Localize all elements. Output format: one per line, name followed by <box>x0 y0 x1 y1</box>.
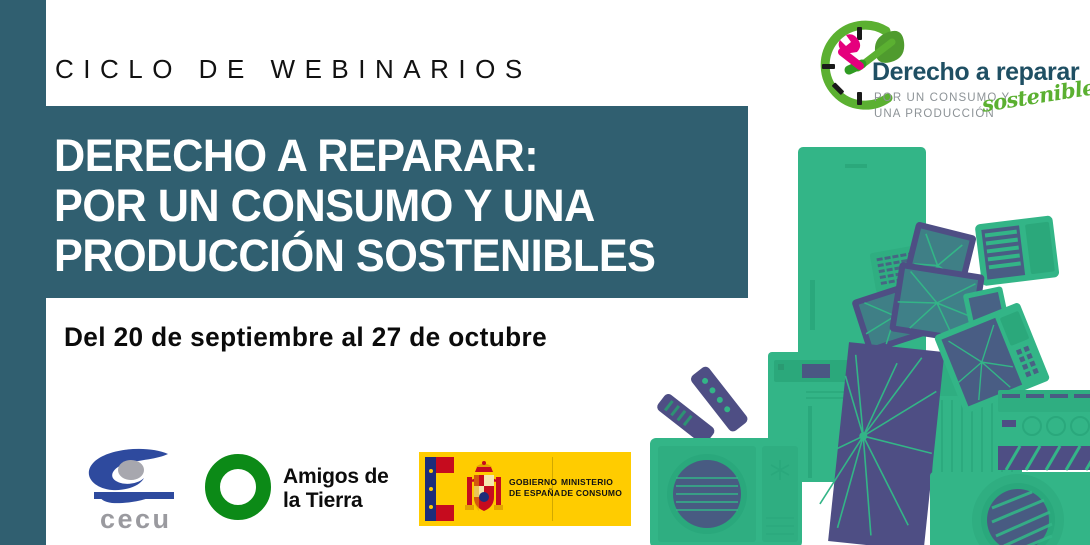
event-date-range: Del 20 de septiembre al 27 de octubre <box>64 322 547 353</box>
amigos-de-la-tierra-wordmark: Amigos de la Tierra <box>283 465 389 513</box>
headline-line-2: POR UN CONSUMO Y UNA <box>54 181 716 231</box>
sponsor-logos-row: cecu Amigos de la Tierra <box>0 440 700 545</box>
webinar-poster: CICLO DE WEBINARIOS DERECHO A REPARAR: P… <box>0 0 1090 545</box>
amigos-de-la-tierra-logo: Amigos de la Tierra <box>205 452 395 532</box>
spain-flag-stripe-icon <box>436 457 454 521</box>
ministerio-label: MINISTERIO DE CONSUMO <box>561 477 622 499</box>
amigos-line-2: la Tierra <box>283 489 389 513</box>
gobierno-de-espana-logo: GOBIERNO DE ESPAÑA MINISTERIO DE CONSUMO <box>419 452 631 526</box>
gobierno-label: GOBIERNO DE ESPAÑA <box>509 477 560 499</box>
cecu-swirl-icon <box>82 448 186 512</box>
ministerio-label-line-1: MINISTERIO <box>561 477 622 488</box>
wrench-icon <box>839 34 860 66</box>
cecu-wordmark: cecu <box>100 506 172 533</box>
spain-coat-of-arms-icon <box>463 461 505 517</box>
cecu-logo: cecu <box>82 448 192 538</box>
page-title: DERECHO A REPARAR: POR UN CONSUMO Y UNA … <box>54 131 716 281</box>
ministerio-label-line-2: DE CONSUMO <box>561 488 622 499</box>
kicker-text: CICLO DE WEBINARIOS <box>55 56 532 82</box>
headline-line-3: PRODUCCIÓN SOSTENIBLES <box>54 231 716 281</box>
brand-wordmark: Derecho a reparar POR UN CONSUMO Y UNA P… <box>872 60 1082 136</box>
headline-line-1: DERECHO A REPARAR: <box>54 131 716 181</box>
eu-flag-stripe-icon <box>425 457 436 521</box>
kicker-band <box>46 0 748 106</box>
green-ring-icon <box>205 454 271 520</box>
derecho-a-reparar-logo: Derecho a reparar POR UN CONSUMO Y UNA P… <box>802 8 1082 138</box>
gobierno-label-line-2: DE ESPAÑA <box>509 488 560 499</box>
amigos-line-1: Amigos de <box>283 465 389 489</box>
gobierno-label-line-1: GOBIERNO <box>509 477 560 488</box>
